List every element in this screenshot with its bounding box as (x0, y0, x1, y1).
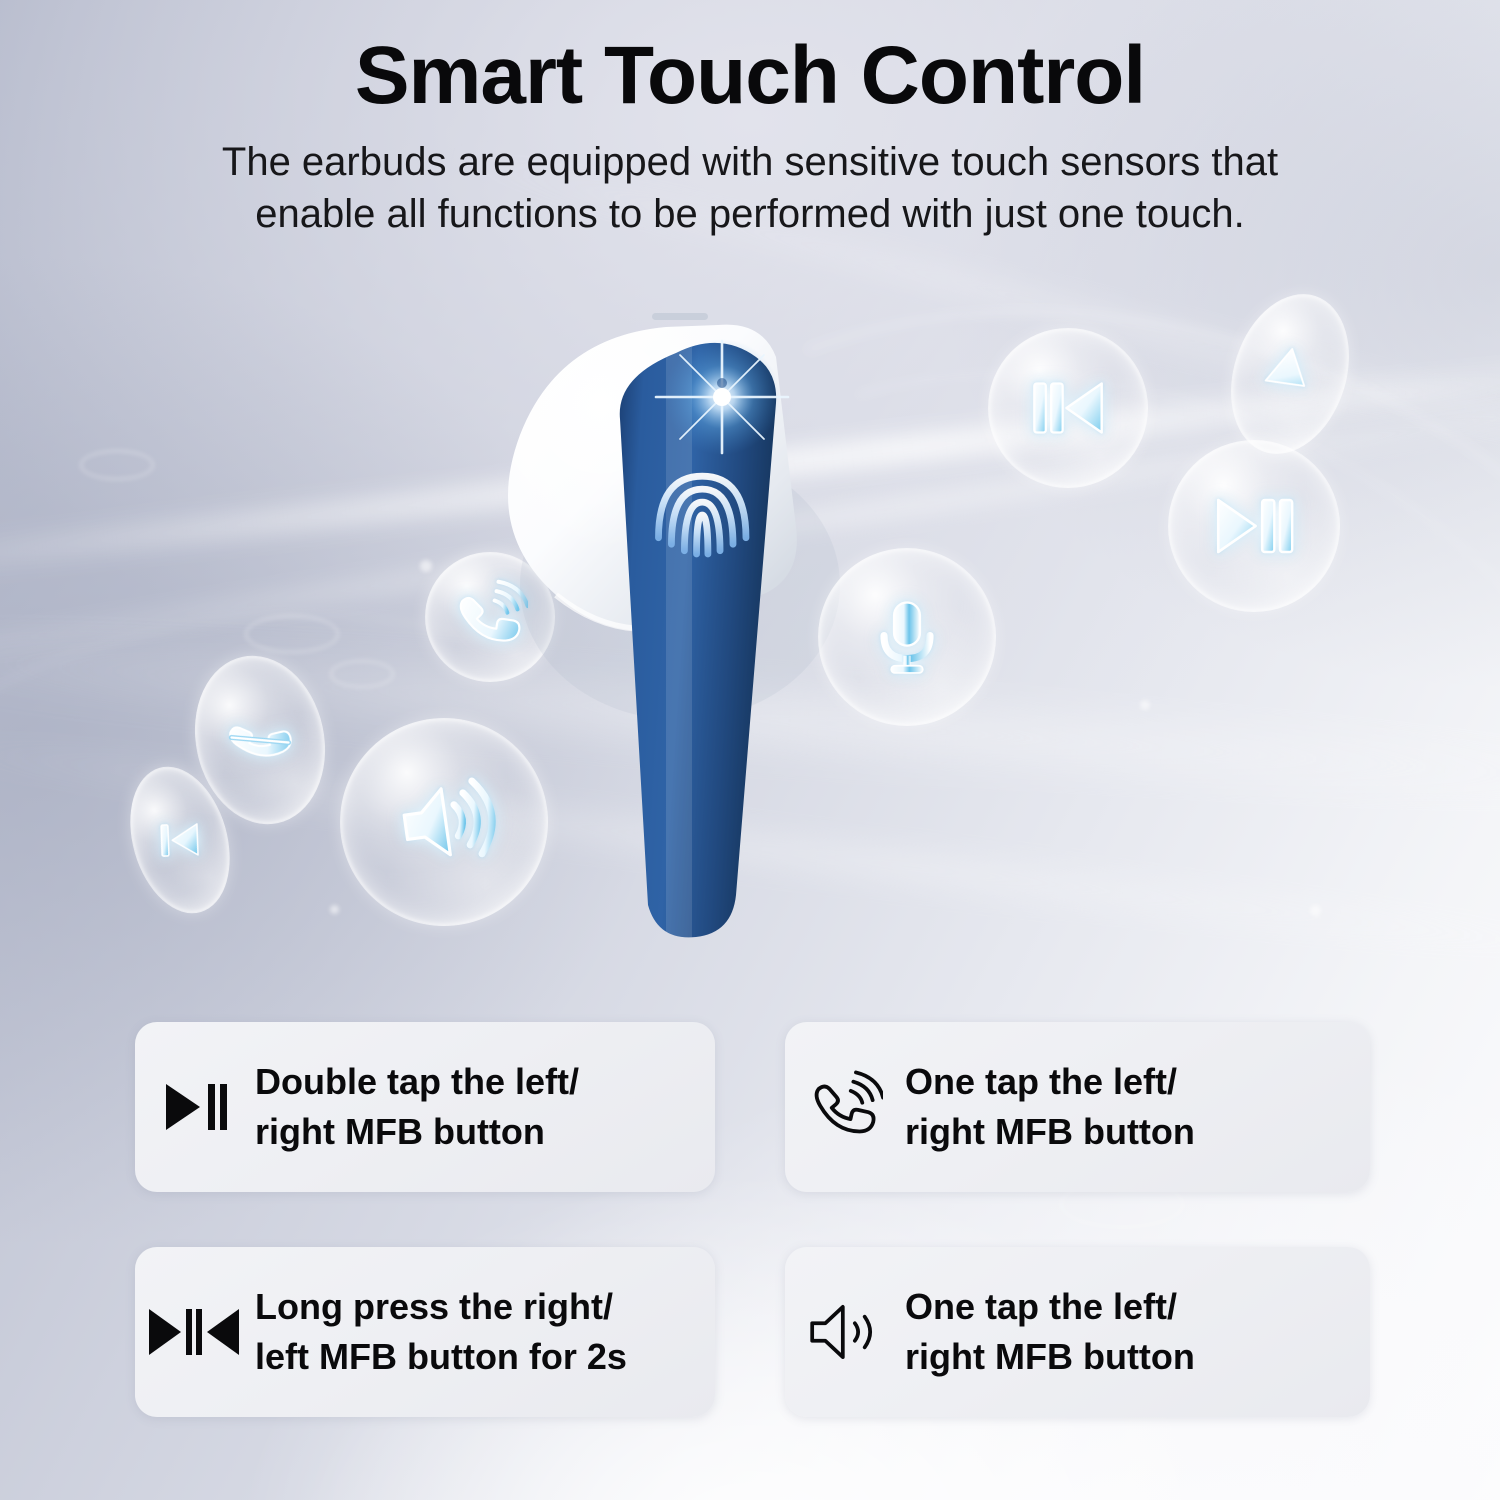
feature-card-text: Long press the right/ left MFB button fo… (255, 1282, 627, 1381)
background-bokeh (245, 615, 339, 653)
subtitle-line-1: The earbuds are equipped with sensitive … (0, 136, 1500, 189)
feature-card-track-skip[interactable]: Long press the right/ left MFB button fo… (135, 1247, 715, 1417)
background-bokeh (330, 660, 394, 688)
feature-card-line-2: right MFB button (905, 1332, 1195, 1382)
background-bokeh (80, 450, 154, 480)
feature-card-line-1: Double tap the left/ (255, 1061, 579, 1102)
subtitle-line-2: enable all functions to be performed wit… (0, 188, 1500, 241)
background-bokeh (420, 560, 432, 572)
background-bokeh (1140, 700, 1150, 710)
previous-track-icon (142, 802, 219, 879)
volume-speaker-icon (785, 1297, 905, 1367)
header: Smart Touch Control The earbuds are equi… (0, 34, 1500, 241)
page-subtitle: The earbuds are equipped with sensitive … (0, 136, 1500, 242)
feature-card-text: Double tap the left/ right MFB button (255, 1057, 579, 1156)
feature-card-line-2: right MFB button (255, 1107, 579, 1157)
feature-card-line-1: One tap the left/ (905, 1286, 1177, 1327)
next-previous-track-icon (135, 1301, 255, 1363)
rewind-pause-icon (1019, 359, 1117, 457)
background-bokeh (1310, 905, 1321, 916)
feature-card-play-pause[interactable]: Double tap the left/ right MFB button (135, 1022, 715, 1192)
bubble-play-pause (1168, 440, 1340, 612)
call-ring-icon (785, 1069, 905, 1145)
play-pause-icon (1202, 474, 1306, 578)
feature-card-line-1: Long press the right/ (255, 1286, 613, 1327)
background-bokeh (330, 905, 339, 914)
feature-card-line-2: right MFB button (905, 1107, 1195, 1157)
play-triangle-icon (1248, 332, 1331, 415)
call-decline-icon (217, 697, 302, 782)
feature-card-line-1: One tap the left/ (905, 1061, 1177, 1102)
microphone-icon (861, 591, 953, 683)
play-pause-icon (135, 1076, 255, 1138)
feature-card-row-1: Double tap the left/ right MFB button (0, 1022, 1500, 1192)
feature-card-call[interactable]: One tap the left/ right MFB button (785, 1022, 1370, 1192)
bubble-rewind-pause (988, 328, 1148, 488)
feature-card-volume[interactable]: One tap the left/ right MFB button (785, 1247, 1370, 1417)
feature-card-row-2: Long press the right/ left MFB button fo… (0, 1247, 1500, 1417)
feature-card-line-2: left MFB button for 2s (255, 1332, 627, 1382)
bubble-microphone (818, 548, 996, 726)
feature-card-grid: Double tap the left/ right MFB button (0, 1022, 1500, 1417)
feature-card-text: One tap the left/ right MFB button (905, 1057, 1195, 1156)
product-feature-graphic: Smart Touch Control The earbuds are equi… (0, 0, 1500, 1500)
feature-card-text: One tap the left/ right MFB button (905, 1282, 1195, 1381)
page-title: Smart Touch Control (0, 34, 1500, 118)
